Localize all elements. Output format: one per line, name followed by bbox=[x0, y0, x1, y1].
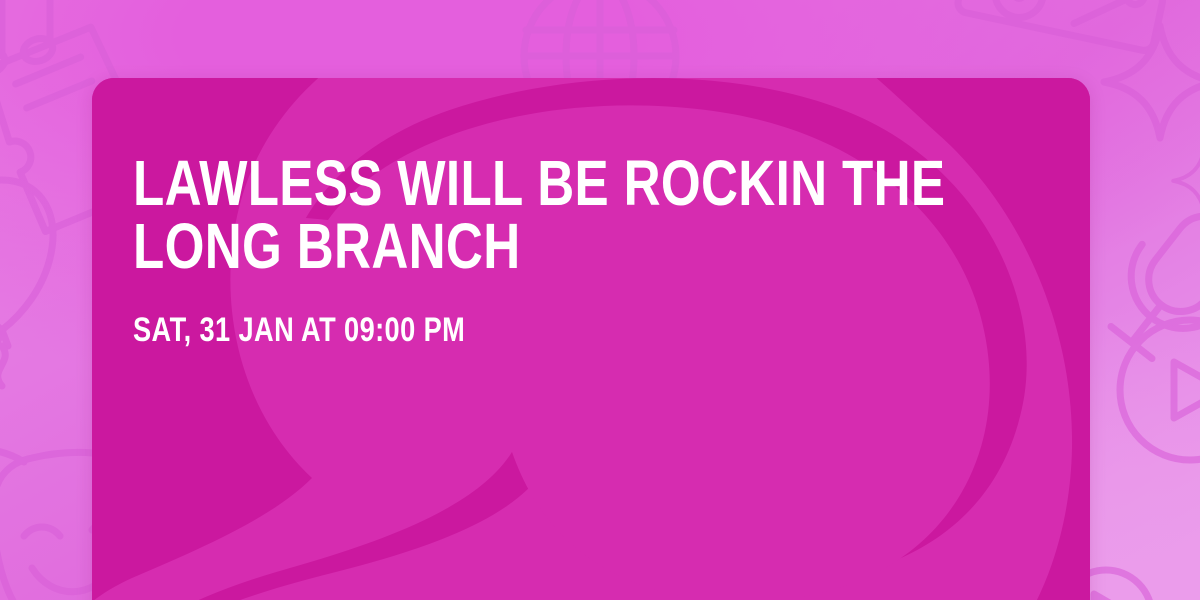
turntable-icon bbox=[956, 0, 1164, 52]
card-text-block: LAWLESS WILL BE ROCKIN THE LONG BRANCH S… bbox=[133, 152, 993, 347]
event-card[interactable]: LAWLESS WILL BE ROCKIN THE LONG BRANCH S… bbox=[92, 78, 1090, 600]
balloon-icon bbox=[0, 180, 53, 386]
sparkle-icon bbox=[1173, 150, 1200, 212]
event-title: LAWLESS WILL BE ROCKIN THE bbox=[133, 152, 989, 215]
microphone-icon bbox=[1091, 191, 1200, 375]
music-note-icon bbox=[0, 0, 56, 77]
event-title-line-2: LONG BRANCH bbox=[133, 215, 989, 278]
event-date: SAT, 31 JAN AT 09:00 PM bbox=[133, 277, 581, 347]
event-banner: LAWLESS WILL BE ROCKIN THE LONG BRANCH S… bbox=[0, 0, 1200, 600]
confetti-swirl-icon bbox=[1113, 592, 1200, 600]
